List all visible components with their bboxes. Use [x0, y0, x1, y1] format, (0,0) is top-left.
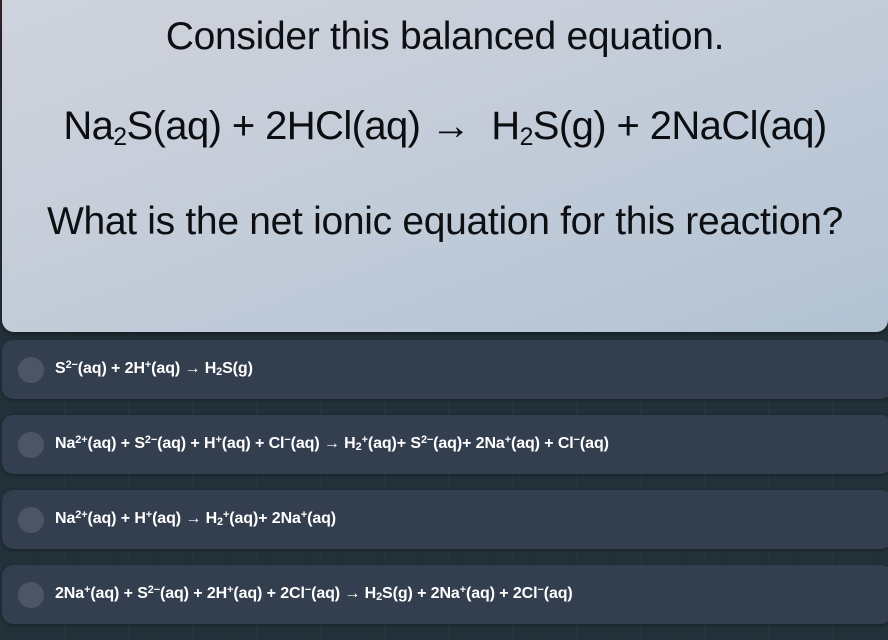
answer-option-b[interactable]: Na2+(aq) + S2−(aq) + H+(aq) + Cl−(aq) → … — [2, 415, 888, 474]
answer-option-c[interactable]: Na2+(aq) + H+(aq) → H2+(aq)+ 2Na+(aq) — [2, 490, 888, 549]
answer-option-a[interactable]: S2−(aq) + 2H+(aq) → H2S(g) — [2, 340, 888, 399]
question-prompt: Consider this balanced equation. — [10, 14, 880, 60]
answer-option-label: Na2+(aq) + H+(aq) → H2+(aq)+ 2Na+(aq) — [55, 510, 336, 529]
radio-button-icon[interactable] — [18, 432, 44, 458]
question-card: Consider this balanced equation. Na2S(aq… — [2, 0, 888, 332]
answer-option-label: Na2+(aq) + S2−(aq) + H+(aq) + Cl−(aq) → … — [55, 435, 609, 454]
radio-button-icon[interactable] — [18, 507, 44, 533]
quiz-screen: Consider this balanced equation. Na2S(aq… — [0, 0, 888, 640]
radio-button-icon[interactable] — [18, 582, 44, 608]
balanced-equation: Na2S(aq) + 2HCl(aq) → H2S(g) + 2NaCl(aq) — [10, 104, 880, 151]
question-text: What is the net ionic equation for this … — [45, 199, 845, 245]
radio-button-icon[interactable] — [18, 357, 44, 383]
answer-options-list: S2−(aq) + 2H+(aq) → H2S(g) Na2+(aq) + S2… — [0, 340, 888, 624]
answer-option-label: S2−(aq) + 2H+(aq) → H2S(g) — [55, 360, 253, 379]
answer-option-d[interactable]: 2Na+(aq) + S2−(aq) + 2H+(aq) + 2Cl−(aq) … — [2, 565, 888, 624]
answer-option-label: 2Na+(aq) + S2−(aq) + 2H+(aq) + 2Cl−(aq) … — [55, 585, 573, 604]
